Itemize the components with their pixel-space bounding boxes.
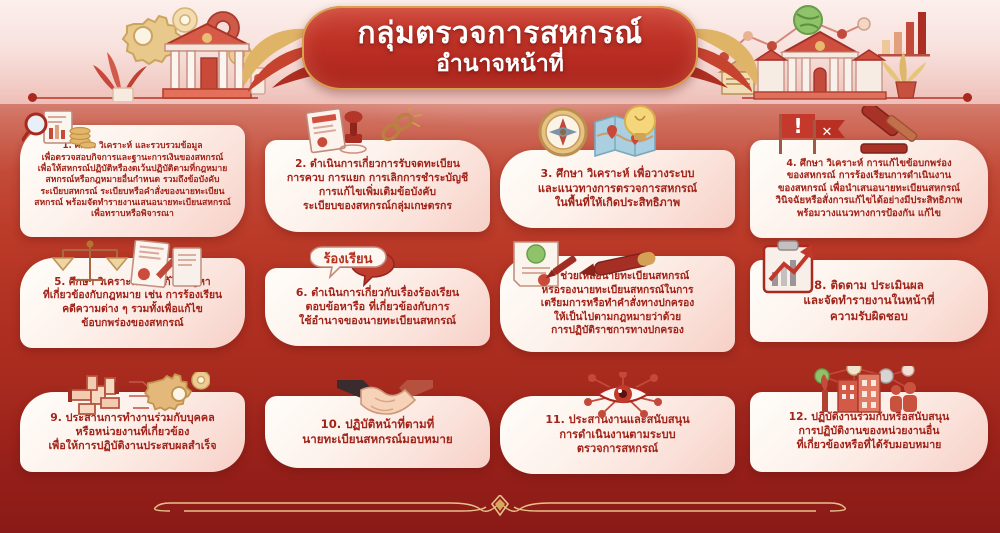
header-dot-right <box>963 93 972 102</box>
gold-ornamental-divider-icon <box>150 495 850 521</box>
banner-title-line1: กลุ่มตรวจการสหกรณ์ <box>357 17 642 50</box>
banner-ribbon: กลุ่มตรวจการสหกรณ์ อำนาจหน้าที่ <box>302 6 698 90</box>
card-12[interactable]: 12. ปฏิบัติงานร่วมกับหรือสนับสนุน การปฏิ… <box>750 392 988 472</box>
card-4-text: 4. ศึกษา วิเคราะห์ การแก้ไขข้อบกพร่อง ขอ… <box>776 158 963 221</box>
card-6-text: 6. ดำเนินการเกี่ยวกับเรื่องร้องเรียน ตอบ… <box>296 286 459 329</box>
card-3-text: 3. ศึกษา วิเคราะห์ เพื่อวางระบบ และแนวทา… <box>538 167 697 211</box>
card-5-text: 5. ศึกษา วิเคราะห์ เพื่อแก้ไขปัญหา ที่เก… <box>43 276 222 330</box>
svg-text:!: ! <box>793 114 802 138</box>
card-10[interactable]: 10. ปฏิบัติหน้าที่ตามที่ นายทะเบียนสหกรณ… <box>265 396 490 468</box>
card-11[interactable]: 11. ประสานงานและสนับสนุน การดำเนินงานตาม… <box>500 396 735 474</box>
card-8-text: 8. ติดตาม ประเมินผล และจัดทำรายงานในหน้า… <box>803 278 934 324</box>
banner-title-line2: อำนาจหน้าที่ <box>436 51 564 79</box>
card-11-text: 11. ประสานงานและสนับสนุน การดำเนินงานตาม… <box>545 413 689 457</box>
card-9[interactable]: 9. ประสานการทำงานร่วมกับบุคคล หรือหน่วยง… <box>20 392 245 472</box>
svg-text:✕: ✕ <box>822 125 833 140</box>
card-5[interactable]: 5. ศึกษา วิเคราะห์ เพื่อแก้ไขปัญหา ที่เก… <box>20 258 245 348</box>
card-3[interactable]: 3. ศึกษา วิเคราะห์ เพื่อวางระบบ และแนวทา… <box>500 150 735 228</box>
card-9-text: 9. ประสานการทำงานร่วมกับบุคคล หรือหน่วยง… <box>48 411 216 454</box>
card-6-icon-label: ร้องเรียน <box>323 251 372 267</box>
card-1[interactable]: 1. ศึกษา วิเคราะห์ และรวบรวมข้อมูล เพื่อ… <box>20 125 245 237</box>
card-2-text: 2. ดำเนินการเกี่ยวการรับจดทะเบียน การควบ… <box>287 158 468 213</box>
card-2[interactable]: 2. ดำเนินการเกี่ยวการรับจดทะเบียน การควบ… <box>265 140 490 232</box>
infographic-page: กลุ่มตรวจการสหกรณ์ อำนาจหน้าที่ 1. ศึกษา… <box>0 0 1000 533</box>
card-8[interactable]: 8. ติดตาม ประเมินผล และจัดทำรายงานในหน้า… <box>750 260 988 342</box>
card-1-text: 1. ศึกษา วิเคราะห์ และรวบรวมข้อมูล เพื่อ… <box>34 141 231 220</box>
header-dot-left <box>28 93 37 102</box>
card-6[interactable]: 6. ดำเนินการเกี่ยวกับเรื่องร้องเรียน ตอบ… <box>265 268 490 346</box>
card-7-text: 7. ช่วยเหลือนายทะเบียนสหกรณ์ หรือรองนายท… <box>541 270 695 337</box>
card-7[interactable]: 7. ช่วยเหลือนายทะเบียนสหกรณ์ หรือรองนายท… <box>500 256 735 352</box>
title-banner: กลุ่มตรวจการสหกรณ์ อำนาจหน้าที่ <box>260 2 740 98</box>
card-12-text: 12. ปฏิบัติงานร่วมกับหรือสนับสนุน การปฏิ… <box>789 411 949 453</box>
card-4[interactable]: 4. ศึกษา วิเคราะห์ การแก้ไขข้อบกพร่อง ขอ… <box>750 140 988 238</box>
card-10-text: 10. ปฏิบัติหน้าที่ตามที่ นายทะเบียนสหกรณ… <box>302 417 452 448</box>
